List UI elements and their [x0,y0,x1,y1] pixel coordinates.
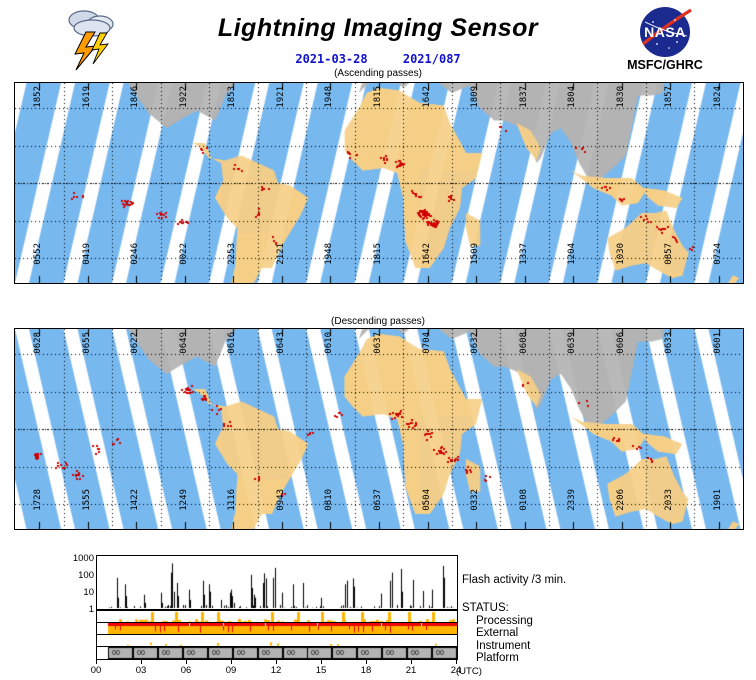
descending-caption: (Descending passes) [0,316,756,327]
time-axis-label: 18 [354,665,378,676]
map-time-tick-label: 0606 [616,332,626,354]
status-platform-canvas [97,647,457,659]
map-time-tick-label: 1249 [179,489,189,511]
legend-item-processing: Processing [462,615,533,628]
time-axis-tick [96,660,97,664]
map-time-tick-label: 1555 [82,489,92,511]
map-time-tick-label: 2253 [227,243,237,265]
page-header: Lightning Imaging Sensor 2021-03-28 2021… [0,0,756,78]
time-axis-tick [231,660,232,664]
map-time-tick-label: 0637 [373,332,383,354]
date-doy: 2021/087 [403,52,461,66]
map-time-tick-label: 0655 [82,332,92,354]
map-time-tick-label: 0810 [324,489,334,511]
map-time-tick-label: 0022 [179,243,189,265]
map-time-tick-label: 0622 [130,332,140,354]
map-time-tick-label: 0608 [519,332,529,354]
map-time-tick-label: 1901 [713,489,723,511]
flash-plot-y-tick: 100 [54,570,94,581]
map-time-tick-label: 1824 [713,86,723,108]
map-time-tick-label: 0108 [519,489,529,511]
map-time-tick-label: 0628 [33,332,43,354]
map-time-tick-label: 1846 [130,86,140,108]
map-time-tick-label: 0639 [567,332,577,354]
time-axis: 000306091215182124 [96,660,456,678]
map-time-tick-label: 0633 [664,332,674,354]
time-axis-label: 21 [399,665,423,676]
map-time-tick-label: 0857 [664,243,674,265]
map-time-tick-label: 1642 [422,86,432,108]
map-time-tick-label: 1337 [519,243,529,265]
time-axis-label: 00 [84,665,108,676]
legend-status-block: STATUS: Processing External Instrument P… [462,602,533,665]
flash-plot-y-tick: 10 [54,587,94,598]
map-time-tick-label: 0552 [33,243,43,265]
map-time-tick-label: 1922 [179,86,189,108]
time-axis-tick [186,660,187,664]
map-time-tick-label: 0610 [324,332,334,354]
time-axis-label: 15 [309,665,333,676]
map-time-tick-label: 1948 [324,86,334,108]
date-iso: 2021-03-28 [295,52,367,66]
map-time-tick-label: 0649 [179,332,189,354]
legend-item-external: External [462,627,533,640]
map-time-tick-label: 0601 [713,332,723,354]
map-time-tick-label: 1853 [227,86,237,108]
map-time-tick-label: 0504 [422,489,432,511]
time-axis-tick [141,660,142,664]
map-time-tick-label: 0637 [373,489,383,511]
time-axis-tick [411,660,412,664]
map-time-tick-label: 1837 [519,86,529,108]
map-time-tick-label: 0246 [130,243,140,265]
map-time-tick-label: 1422 [130,489,140,511]
time-axis-tick [366,660,367,664]
map-time-tick-label: 1921 [276,86,286,108]
time-axis-label: 03 [129,665,153,676]
map-time-tick-label: 0332 [470,489,480,511]
flash-activity-plot[interactable] [96,555,458,610]
map-time-tick-label: 2121 [276,243,286,265]
map-time-tick-label: 1857 [664,86,674,108]
time-axis-label: 12 [264,665,288,676]
nasa-meatball-logo: NASA [625,6,705,58]
legend-item-platform: Platform [462,652,533,665]
flash-plot-y-axis: 1000100101 [50,548,94,614]
flash-plot-y-tick: 1000 [54,553,94,564]
map-time-tick-label: 1728 [33,489,43,511]
time-axis-label: 09 [219,665,243,676]
map-time-tick-label: 1204 [567,243,577,265]
map-time-tick-label: 1830 [616,86,626,108]
map-time-tick-label: 0616 [227,332,237,354]
svg-text:NASA: NASA [644,24,686,40]
map-time-tick-label: 1804 [567,86,577,108]
map-time-tick-label: 0724 [713,243,723,265]
time-axis-tick [276,660,277,664]
map-time-tick-label: 0419 [82,243,92,265]
map-time-tick-label: 0632 [470,332,480,354]
map-time-tick-label: 1642 [422,243,432,265]
flash-activity-canvas [97,556,457,609]
map-time-tick-label: 2206 [616,489,626,511]
legend-status-title: STATUS: [462,602,533,615]
map-time-tick-label: 1030 [616,243,626,265]
status-row-platform[interactable] [96,646,458,660]
map-time-tick-label: 0943 [276,489,286,511]
map-time-tick-label: 2033 [664,489,674,511]
time-axis-tick [456,660,457,664]
map-time-tick-label: 1815 [373,243,383,265]
map-time-tick-label: 2339 [567,489,577,511]
map-time-tick-label: 0704 [422,332,432,354]
ascending-caption: (Ascending passes) [0,68,756,79]
time-axis-label: 06 [174,665,198,676]
map-time-tick-label: 0643 [276,332,286,354]
timeseries-panel: 1000100101 000306091215182124 (UTC) Flas… [0,548,756,680]
map-time-tick-label: 1619 [82,86,92,108]
legend-flash-label: Flash activity /3 min. [462,574,566,587]
map-time-tick-label: 1809 [470,86,480,108]
map-time-tick-label: 1815 [373,86,383,108]
flash-plot-y-tick: 1 [54,604,94,615]
map-time-tick-label: 1116 [227,489,237,511]
map-time-tick-label: 1948 [324,243,334,265]
time-axis-tick [321,660,322,664]
utc-unit-label: (UTC) [456,666,482,677]
map-time-tick-label: 1509 [470,243,480,265]
map-time-tick-label: 1852 [33,86,43,108]
legend-item-instrument: Instrument [462,640,533,653]
